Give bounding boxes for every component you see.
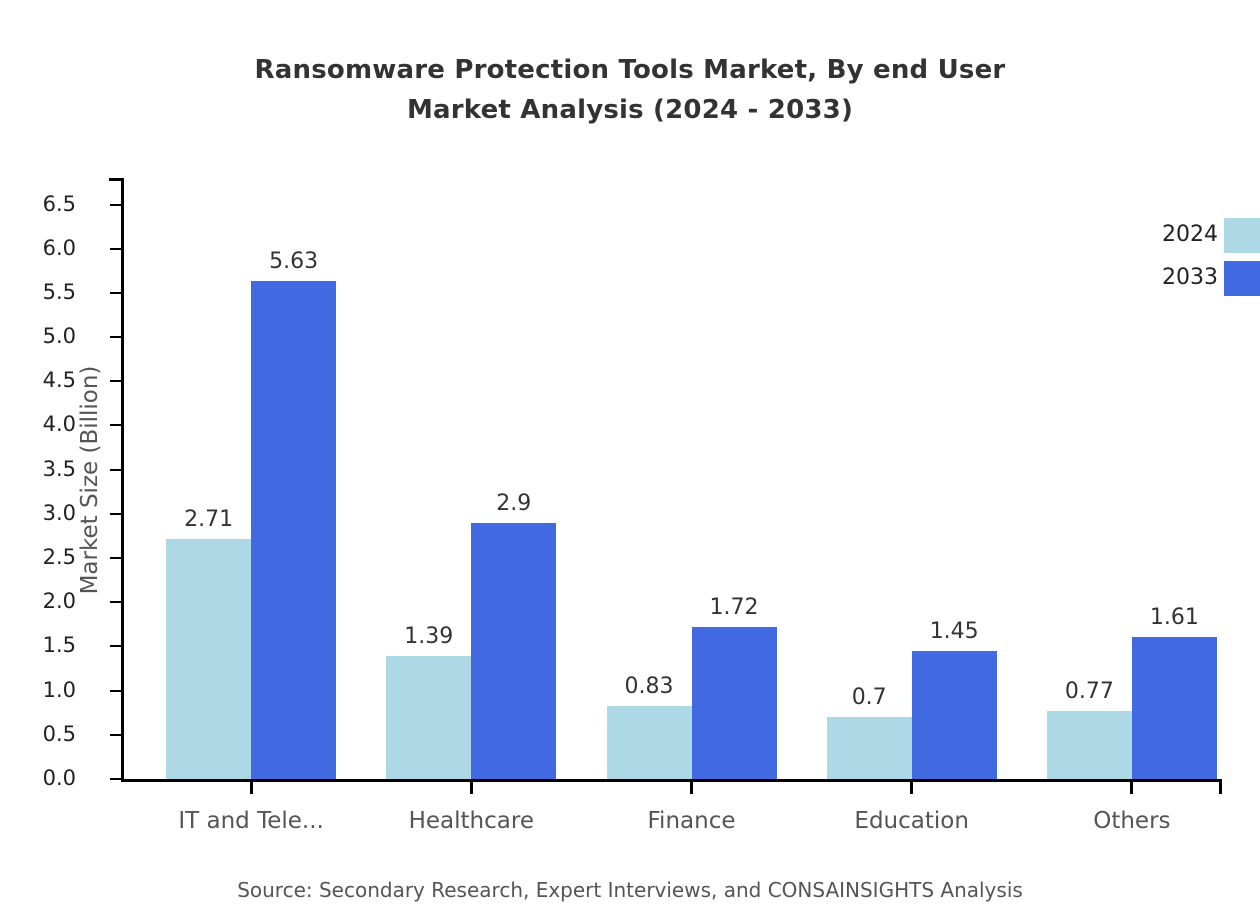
bar-2024-healthcare[interactable] [386, 656, 471, 779]
plot-area: Market Size (Billion) 0.00.51.01.52.02.5… [121, 178, 1222, 782]
bar-value-label: 2.9 [434, 491, 594, 516]
x-axis-tick-label: Others [1002, 808, 1260, 834]
y-axis-line [121, 178, 124, 782]
legend-item-2033[interactable]: 2033 [1128, 261, 1260, 297]
bar-2024-finance[interactable] [607, 706, 692, 779]
y-axis-tick-label: 1.5 [0, 635, 76, 656]
bar-value-label: 1.45 [874, 619, 1034, 644]
y-axis-tick [110, 690, 121, 692]
bar-2033-others[interactable] [1132, 637, 1217, 779]
y-axis-tick [110, 292, 121, 294]
legend-swatch-2033 [1224, 261, 1260, 296]
y-axis-tick-label: 5.0 [0, 326, 76, 347]
y-axis-tick [110, 513, 121, 515]
y-axis-tick-label: 4.5 [0, 370, 76, 391]
legend-item-2024[interactable]: 2024 [1128, 218, 1260, 254]
y-axis-tick-label: 0.0 [0, 768, 76, 789]
y-axis-tick-label: 2.5 [0, 547, 76, 568]
x-axis-line [121, 779, 1222, 782]
y-axis-tick [110, 248, 121, 250]
x-axis-tick [910, 782, 913, 794]
x-axis-end-cap [1219, 779, 1222, 794]
chart-canvas: Ransomware Protection Tools Market, By e… [0, 0, 1260, 920]
source-note: Source: Secondary Research, Expert Inter… [0, 878, 1260, 902]
legend-label-2024: 2024 [1128, 222, 1218, 247]
y-axis-tick-label: 3.0 [0, 503, 76, 524]
y-axis-tick-label: 6.5 [0, 194, 76, 215]
bar-2024-it-and-tele-[interactable] [166, 539, 251, 779]
bar-value-label: 1.72 [654, 595, 814, 620]
bar-2024-others[interactable] [1047, 711, 1132, 779]
y-axis-tick-label: 3.5 [0, 459, 76, 480]
y-axis-tick [110, 734, 121, 736]
y-axis-tick-label: 5.5 [0, 282, 76, 303]
chart-title-line-1: Ransomware Protection Tools Market, By e… [0, 50, 1260, 90]
y-axis-tick [110, 557, 121, 559]
chart-title: Ransomware Protection Tools Market, By e… [0, 50, 1260, 130]
y-axis-tick-label: 4.0 [0, 414, 76, 435]
x-axis-tick [690, 782, 693, 794]
legend-label-2033: 2033 [1128, 265, 1218, 290]
bar-2033-finance[interactable] [692, 627, 777, 779]
chart-title-line-2: Market Analysis (2024 - 2033) [0, 90, 1260, 130]
y-axis-tick-label: 2.0 [0, 591, 76, 612]
bar-2033-it-and-tele-[interactable] [251, 281, 336, 779]
bar-2033-healthcare[interactable] [471, 523, 556, 779]
y-axis-tick [110, 380, 121, 382]
x-axis-tick [470, 782, 473, 794]
y-axis-tick-label: 1.0 [0, 680, 76, 701]
bar-2024-education[interactable] [827, 717, 912, 779]
legend-swatch-2024 [1224, 218, 1260, 253]
bar-value-label: 1.61 [1094, 605, 1254, 630]
x-axis-tick [1130, 782, 1133, 794]
y-axis-tick [110, 645, 121, 647]
y-axis-tick [110, 424, 121, 426]
y-axis-tick [110, 204, 121, 206]
legend: 2024 2033 [1128, 218, 1260, 308]
bar-2033-education[interactable] [912, 651, 997, 779]
x-axis-tick [250, 782, 253, 794]
bar-value-label: 5.63 [214, 249, 374, 274]
y-axis-tick [110, 336, 121, 338]
y-axis-tick [110, 778, 121, 780]
y-axis-tick [110, 601, 121, 603]
y-axis-tick [110, 469, 121, 471]
y-axis-tick-label: 6.0 [0, 238, 76, 259]
y-axis-tick-label: 0.5 [0, 724, 76, 745]
